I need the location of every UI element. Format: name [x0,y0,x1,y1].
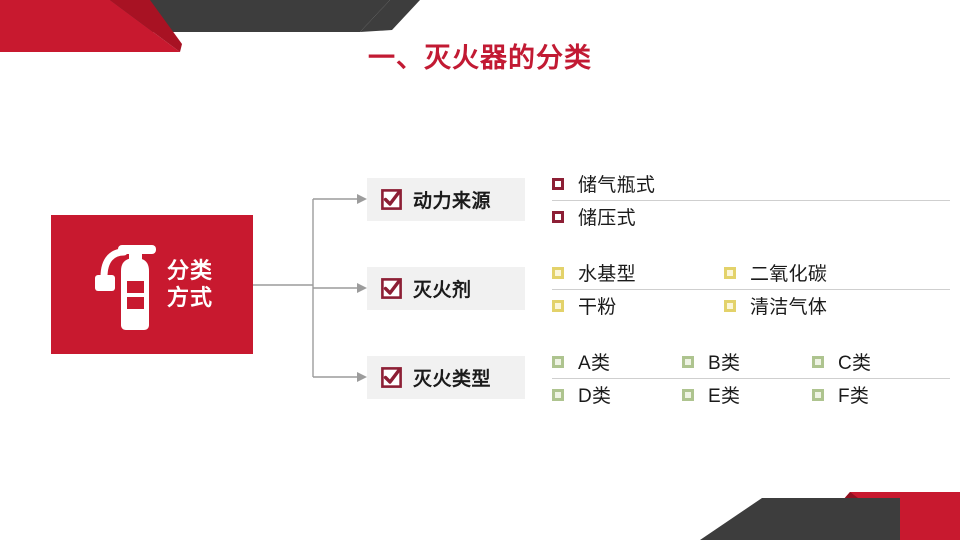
bullet-icon [552,211,564,223]
option-item[interactable]: 储压式 [552,200,772,233]
bullet-icon [812,389,824,401]
bullet-icon [812,356,824,368]
option-group: 储气瓶式 储压式 [552,167,952,233]
option-label: C类 [838,348,871,375]
option-label: 清洁气体 [750,292,827,319]
option-item[interactable]: 水基型 [552,256,724,289]
bullet-icon [682,356,694,368]
option-item[interactable]: C类 [812,345,952,378]
checkbox-checked-icon [381,278,402,299]
option-item[interactable]: B类 [682,345,812,378]
bullet-icon [552,178,564,190]
option-group: 水基型 二氧化碳 干粉 清洁气体 [552,256,952,322]
option-label: 二氧化碳 [750,259,827,286]
bullet-icon [724,300,736,312]
option-label: E类 [708,381,740,408]
option-item[interactable]: A类 [552,345,682,378]
branch-chip-label: 灭火剂 [413,275,472,302]
option-item[interactable]: 二氧化碳 [724,256,952,289]
bullet-icon [552,267,564,279]
option-item[interactable]: F类 [812,378,952,411]
option-group: A类 B类 C类 D类 E类 F类 [552,345,952,411]
slide-canvas: 一、灭火器的分类 分类方式 [0,0,960,540]
bullet-icon [552,356,564,368]
option-divider [552,378,950,379]
option-label: 储气瓶式 [578,170,655,197]
bullet-icon [552,389,564,401]
checkbox-checked-icon [381,189,402,210]
option-item[interactable]: 储气瓶式 [552,167,772,200]
branch-chip[interactable]: 动力来源 [367,178,525,221]
option-divider [552,289,950,290]
bullet-icon [552,300,564,312]
branch-chip-label: 动力来源 [413,186,491,213]
bullet-icon [682,389,694,401]
branch-chip[interactable]: 灭火类型 [367,356,525,399]
option-label: D类 [578,381,611,408]
bullet-icon [724,267,736,279]
checkbox-checked-icon [381,367,402,388]
branch-chip[interactable]: 灭火剂 [367,267,525,310]
option-label: 水基型 [578,259,636,286]
option-label: 干粉 [578,292,617,319]
option-item[interactable]: 清洁气体 [724,289,952,322]
option-item[interactable]: E类 [682,378,812,411]
option-label: A类 [578,348,610,375]
option-item[interactable]: D类 [552,378,682,411]
option-label: 储压式 [578,203,636,230]
option-label: B类 [708,348,740,375]
branch-chip-label: 灭火类型 [413,364,491,391]
option-label: F类 [838,381,869,408]
option-item[interactable]: 干粉 [552,289,724,322]
option-divider [552,200,950,201]
